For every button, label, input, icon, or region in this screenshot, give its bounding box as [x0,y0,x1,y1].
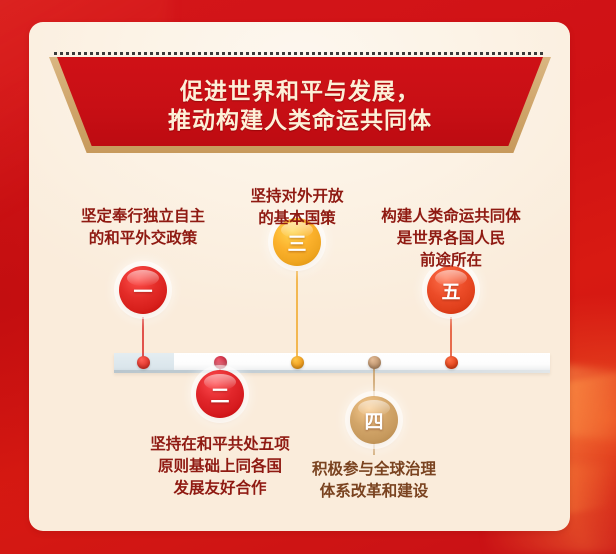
title-banner: 促进世界和平与发展， 推动构建人类命运共同体 [49,57,551,153]
timeline-dot-3[interactable] [291,356,304,369]
timeline-caption-line-5-1: 构建人类命运共同体 [341,206,561,228]
timeline-badge-numeral-5: 五 [441,277,460,304]
timeline-caption-4: 积极参与全球治理体系改革和建设 [264,459,484,503]
timeline-badge-numeral-4: 四 [364,407,383,434]
timeline-caption-line-1-2: 的和平外交政策 [33,228,253,250]
content-card: 促进世界和平与发展， 推动构建人类命运共同体 一坚定奉行独立自主的和平外交政策二… [29,22,570,531]
timeline-dot-2[interactable] [214,356,227,369]
timeline-dot-5[interactable] [445,356,458,369]
timeline-rail [114,353,550,373]
timeline-dot-4[interactable] [368,356,381,369]
timeline-connector-3 [296,271,298,359]
title-line-1: 促进世界和平与发展， [180,78,420,105]
poster-root: 促进世界和平与发展， 推动构建人类命运共同体 一坚定奉行独立自主的和平外交政策二… [0,0,616,554]
timeline-badge-numeral-1: 一 [133,277,152,304]
banner-title-text: 促进世界和平与发展， 推动构建人类命运共同体 [49,57,551,153]
timeline-badge-5[interactable]: 五 [427,266,475,314]
timeline-caption-line-4-2: 体系改革和建设 [264,481,484,503]
timeline-caption-line-5-3: 前途所在 [341,250,561,272]
timeline-caption-line-5-2: 是世界各国人民 [341,228,561,250]
timeline-caption-line-4-1: 积极参与全球治理 [264,459,484,481]
timeline-badge-numeral-3: 三 [287,229,306,256]
timeline-caption-line-2-1: 坚持在和平共处五项 [110,434,330,456]
timeline-dot-1[interactable] [137,356,150,369]
timeline-badge-1[interactable]: 一 [119,266,167,314]
timeline-caption-5: 构建人类命运共同体是世界各国人民前途所在 [341,206,561,272]
timeline-rail-edge [114,370,550,373]
timeline-badge-numeral-2: 二 [210,381,229,408]
timeline-caption-line-3-1: 坚持对外开放 [187,186,407,208]
timeline-connector-1 [142,317,144,359]
title-line-2: 推动构建人类命运共同体 [168,107,432,134]
timeline-badge-4[interactable]: 四 [350,396,398,444]
timeline-badge-2[interactable]: 二 [196,370,244,418]
dotted-divider [54,52,546,55]
timeline-connector-5 [450,317,452,359]
